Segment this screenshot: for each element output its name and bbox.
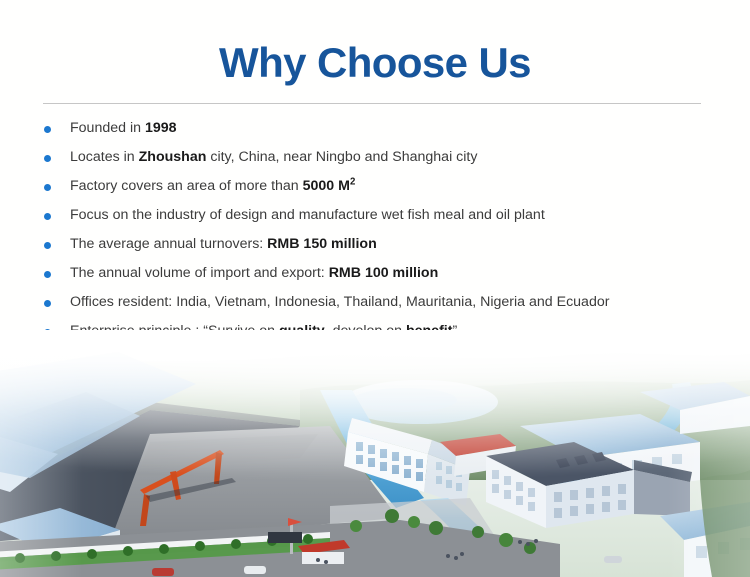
list-item: Locates in Zhoushan city, China, near Ni… (40, 143, 720, 172)
list-item-label: The annual volume of import and export: … (70, 265, 438, 281)
list-item: Focus on the industry of design and manu… (40, 201, 720, 230)
list-item-label: The average annual turnovers: RMB 150 mi… (70, 236, 377, 252)
list-item-label: Focus on the industry of design and manu… (70, 207, 545, 223)
bullet-dot-icon (44, 184, 51, 191)
slide-why-choose-us: Why Choose Us Founded in 1998Locates in … (0, 0, 750, 577)
list-item-label: Offices resident: India, Vietnam, Indone… (70, 294, 609, 310)
lake-highlight (353, 388, 457, 412)
list-item: The annual volume of import and export: … (40, 259, 720, 288)
aerial-factory-rendering (0, 330, 750, 577)
list-item-label: Factory covers an area of more than 5000… (70, 178, 355, 194)
site-sign (268, 532, 302, 543)
factory-scene-graphic (0, 330, 750, 577)
list-item: Offices resident: India, Vietnam, Indone… (40, 288, 720, 317)
bullet-dot-icon (44, 242, 51, 249)
bullet-dot-icon (44, 126, 51, 133)
bullet-dot-icon (44, 213, 51, 220)
list-item: Founded in 1998 (40, 114, 720, 143)
list-item: Factory covers an area of more than 5000… (40, 172, 720, 201)
list-item: The average annual turnovers: RMB 150 mi… (40, 230, 720, 259)
page-title: Why Choose Us (0, 38, 750, 88)
list-item-label: Founded in 1998 (70, 120, 177, 136)
benefits-list: Founded in 1998Locates in Zhoushan city,… (40, 114, 720, 346)
bullet-dot-icon (44, 271, 51, 278)
bullet-dot-icon (44, 155, 51, 162)
title-divider (43, 103, 701, 104)
factory-scene (0, 330, 750, 577)
bullet-dot-icon (44, 300, 51, 307)
list-item-label: Locates in Zhoushan city, China, near Ni… (70, 149, 477, 165)
